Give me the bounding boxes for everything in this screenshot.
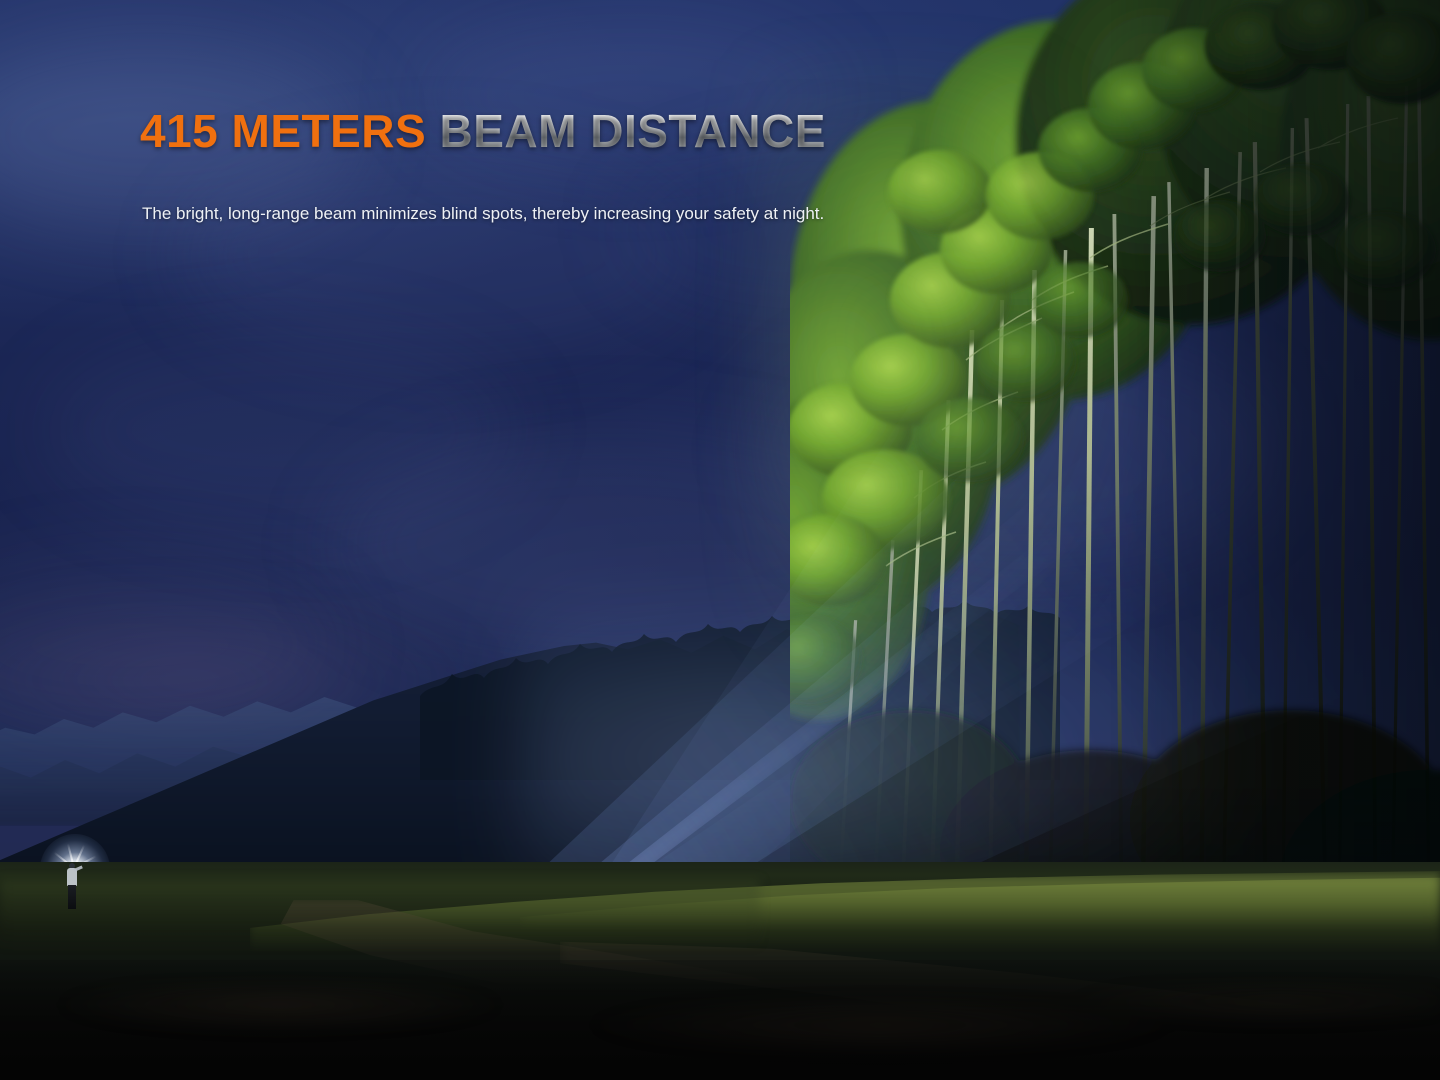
marketing-banner-scene: 415 METERS BEAM DISTANCE The bright, lon… (0, 0, 1440, 1080)
person-legs (68, 885, 76, 909)
foreground-dirt (0, 985, 1440, 1080)
headline-rest: BEAM DISTANCE (426, 105, 826, 157)
person-with-flashlight (63, 862, 85, 910)
body-copy: The bright, long-range beam minimizes bl… (142, 200, 870, 228)
headline: 415 METERS BEAM DISTANCE (140, 108, 826, 154)
headline-accent: 415 METERS (140, 105, 426, 157)
body-paragraph: The bright, long-range beam minimizes bl… (142, 200, 870, 228)
